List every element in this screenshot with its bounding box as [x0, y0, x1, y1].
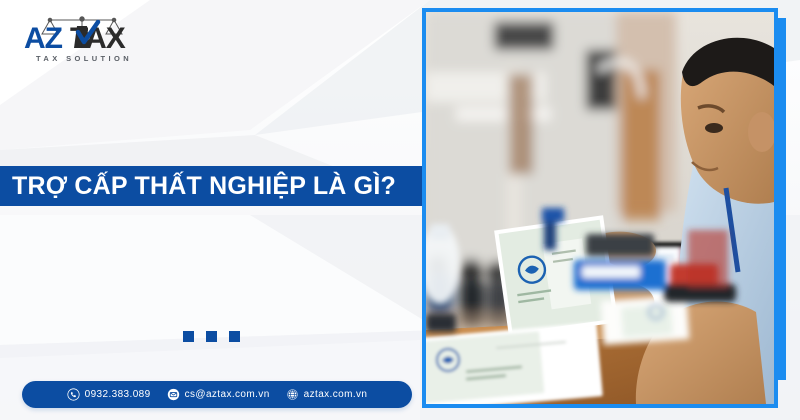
hero-photo [426, 12, 774, 404]
svg-text:TAX: TAX [70, 22, 126, 55]
globe-icon [286, 388, 299, 401]
logo-tagline: TAX SOLUTION [26, 54, 142, 63]
banner-canvas: AZ TAX TAX SOLUTION TRỢ CẤP THẤT NGHIỆP … [0, 0, 800, 420]
brand-logo[interactable]: AZ TAX TAX SOLUTION [22, 14, 142, 72]
phone-icon [67, 388, 80, 401]
decorative-squares [183, 331, 240, 342]
contact-website[interactable]: aztax.com.vn [286, 388, 368, 401]
title-banner: TRỢ CẤP THẤT NGHIỆP LÀ GÌ? [0, 166, 426, 206]
page-title: TRỢ CẤP THẤT NGHIỆP LÀ GÌ? [0, 172, 396, 201]
office-scene-illustration [426, 12, 774, 404]
contact-bar: 0932.383.089 cs@aztax.com.vn az [22, 381, 412, 408]
phone-number: 0932.383.089 [85, 389, 151, 400]
logo-mark: AZ TAX [22, 14, 142, 56]
svg-text:AZ: AZ [24, 22, 63, 55]
email-icon [167, 388, 180, 401]
contact-phone[interactable]: 0932.383.089 [67, 388, 151, 401]
square-3 [229, 331, 240, 342]
square-1 [183, 331, 194, 342]
square-2 [206, 331, 217, 342]
aztax-logo-icon: AZ TAX [22, 14, 142, 56]
contact-email[interactable]: cs@aztax.com.vn [167, 388, 270, 401]
website-url: aztax.com.vn [304, 389, 368, 400]
email-address: cs@aztax.com.vn [185, 389, 270, 400]
hero-photo-frame [422, 8, 778, 408]
